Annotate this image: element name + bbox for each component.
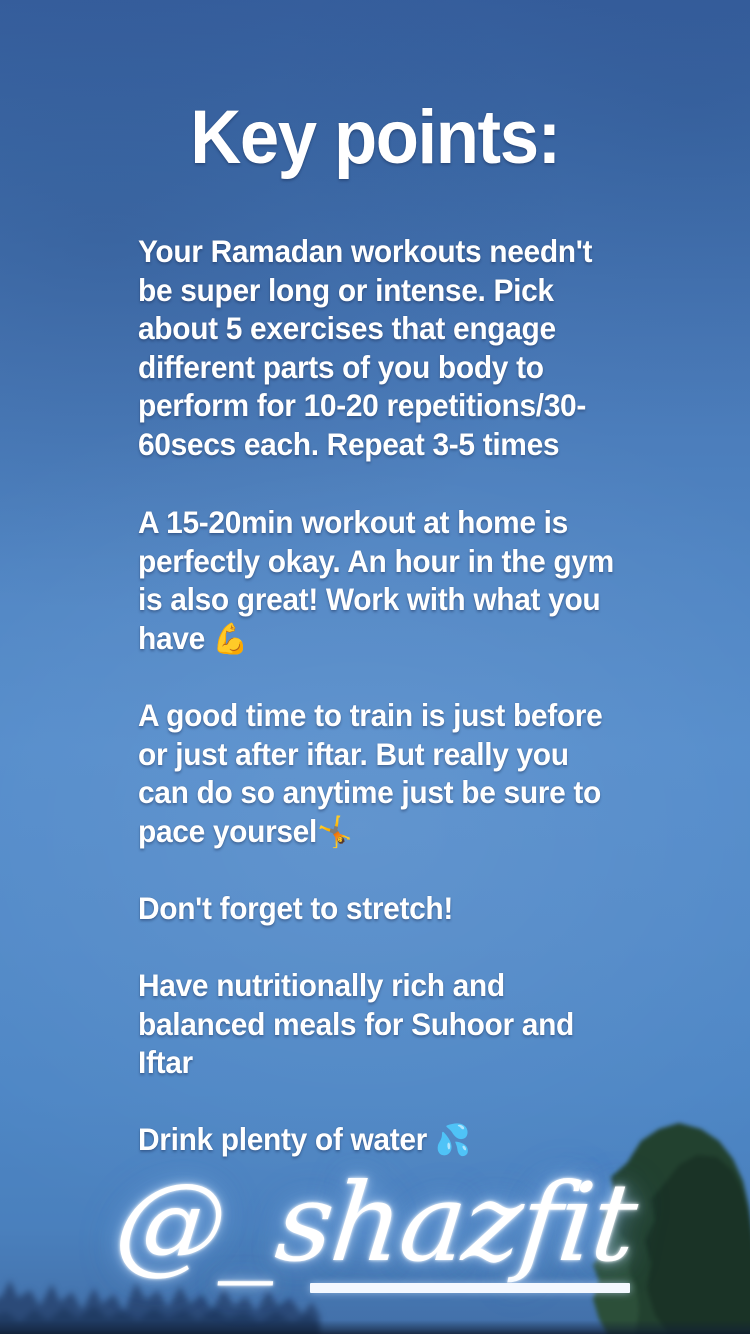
watermark: @_shazfit (0, 1168, 750, 1280)
story-content: Key points: Your Ramadan workouts needn'… (0, 0, 750, 1334)
text-block-nutrition: Have nutritionally rich and balanced mea… (138, 966, 618, 1082)
text-block-stretch: Don't forget to stretch! (138, 889, 618, 928)
text-block-body: Your Ramadan workouts needn't be super l… (138, 233, 592, 462)
text-block-body: A good time to train is just before or j… (138, 697, 602, 849)
text-block-when-to-train: A good time to train is just before or j… (138, 696, 618, 852)
flexed-biceps-emoji: 💪 (213, 622, 248, 657)
text-block-workout-length: Your Ramadan workouts needn't be super l… (138, 232, 618, 463)
person-cartwheeling-emoji: 🤸 (317, 815, 352, 850)
sweat-droplets-emoji: 💦 (435, 1123, 470, 1158)
text-block-body: A 15-20min workout at home is perfectly … (138, 504, 614, 656)
text-block-body: Drink plenty of water (138, 1121, 435, 1157)
watermark-handle: @_shazfit (110, 1168, 640, 1280)
text-block-home-or-gym: A 15-20min workout at home is perfectly … (138, 503, 618, 659)
text-block-hydration: Drink plenty of water 💦 (138, 1120, 618, 1161)
page-title: Key points: (26, 96, 724, 180)
instagram-story-canvas: Key points: Your Ramadan workouts needn'… (0, 0, 750, 1334)
text-block-body: Don't forget to stretch! (138, 890, 453, 926)
text-block-body: Have nutritionally rich and balanced mea… (138, 967, 574, 1080)
watermark-underline (310, 1283, 630, 1293)
